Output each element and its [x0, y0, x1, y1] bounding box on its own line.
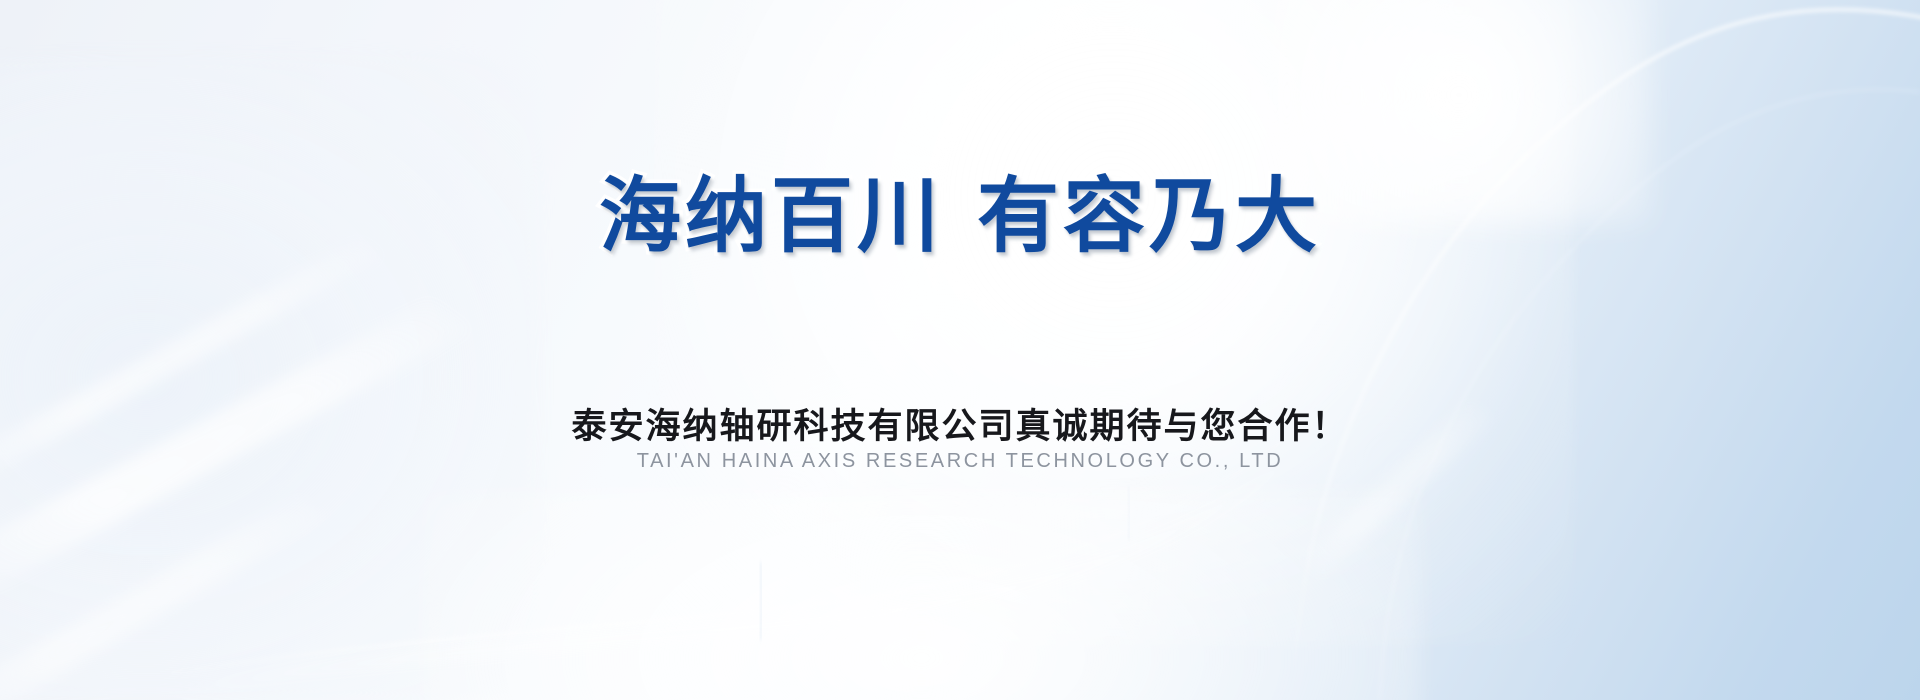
headline-part-1: 海纳百川 — [599, 169, 943, 264]
banner-content: 海纳百川有容乃大 泰安海纳轴研科技有限公司真诚期待与您合作！ TAI'AN HA… — [0, 0, 1920, 700]
banner-subtitle-chinese: 泰安海纳轴研科技有限公司真诚期待与您合作！ — [0, 398, 1920, 449]
headline-part-2: 有容乃大 — [977, 169, 1321, 264]
hero-banner: 海纳百川有容乃大 泰安海纳轴研科技有限公司真诚期待与您合作！ TAI'AN HA… — [0, 0, 1920, 700]
banner-subtitle-english: TAI'AN HAINA AXIS RESEARCH TECHNOLOGY CO… — [0, 450, 1920, 473]
banner-headline: 海纳百川有容乃大 — [0, 176, 1920, 258]
